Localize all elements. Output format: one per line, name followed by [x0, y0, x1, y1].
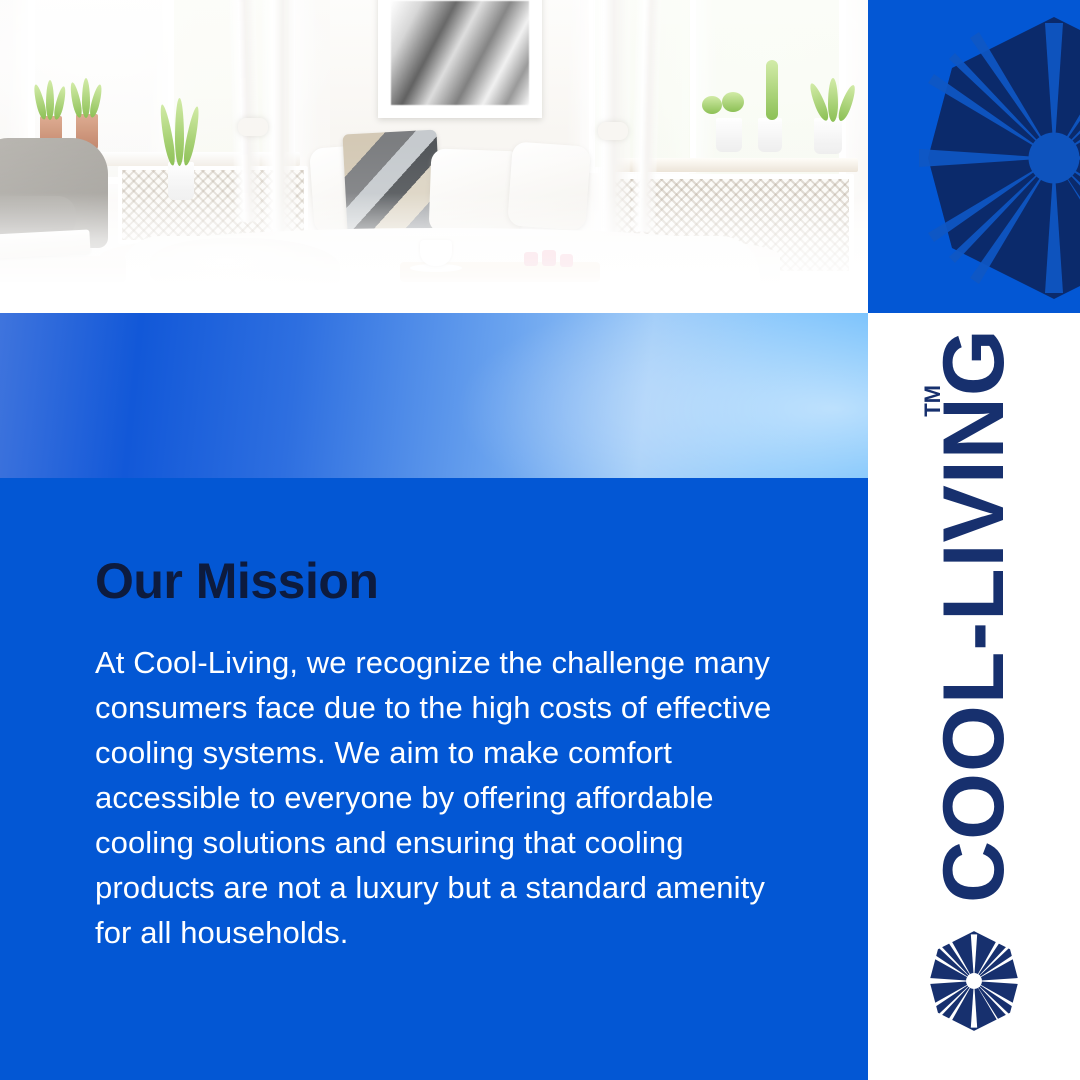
- plant-leaf: [46, 80, 54, 120]
- brand-logo-stack: COOL-LIVING TM: [868, 313, 1080, 1080]
- bedroom-photo: [0, 0, 868, 313]
- plant-pot-white-3: [758, 118, 782, 152]
- starburst-hexagon-watermark: [904, 8, 1080, 308]
- drape-tie-left: [238, 118, 268, 136]
- window-right: [682, 0, 846, 182]
- plant-leaf: [828, 78, 838, 122]
- left-column: Our Mission At Cool-Living, we recognize…: [0, 0, 868, 1080]
- trademark-symbol: TM: [922, 385, 944, 417]
- starburst-hexagon-icon: [921, 928, 1027, 1034]
- photo-bottom-fade: [0, 193, 868, 313]
- photo-scene: [0, 0, 868, 313]
- drape-tie-right: [598, 122, 628, 140]
- brand-wordmark-text: COOL-LIVING: [918, 383, 1030, 903]
- brand-header: [868, 0, 1080, 313]
- plant-leaf: [82, 78, 90, 118]
- plant-leaf: [702, 96, 722, 114]
- plant-pot-white-4: [814, 118, 842, 154]
- plant-pot-white-2: [716, 118, 742, 152]
- artwork-image: [391, 1, 529, 105]
- plant-leaf-braided: [766, 60, 778, 120]
- right-column: COOL-LIVING TM: [868, 0, 1080, 1080]
- framed-artwork: [378, 0, 542, 118]
- brand-gradient-band: [0, 313, 868, 478]
- poster-canvas: Our Mission At Cool-Living, we recognize…: [0, 0, 1080, 1080]
- page-title: Our Mission: [95, 556, 378, 606]
- mission-body-text: At Cool-Living, we recognize the challen…: [95, 641, 775, 956]
- wordmark-rotation: COOL-LIVING TM: [918, 383, 1030, 903]
- plant-leaf: [722, 92, 744, 112]
- mission-panel: Our Mission At Cool-Living, we recognize…: [0, 478, 868, 1080]
